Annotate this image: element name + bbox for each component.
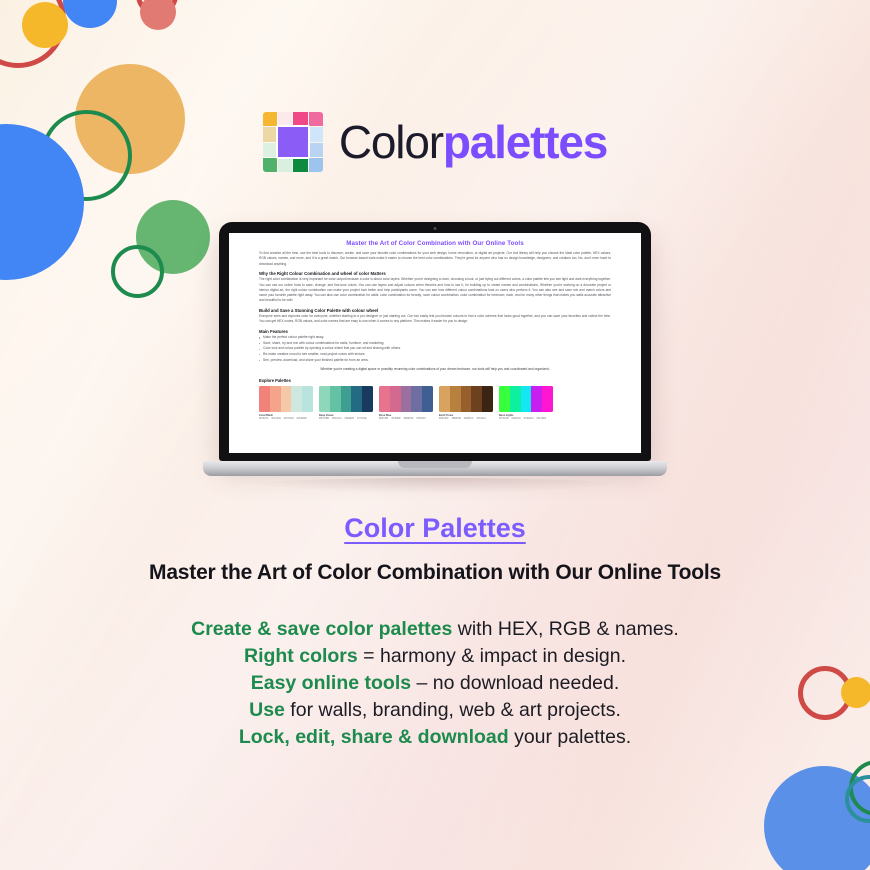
brand-logo: Colorpalettes bbox=[0, 112, 870, 172]
brand-word-color: Color bbox=[339, 116, 443, 168]
palette-hex: #C81EF0 bbox=[524, 418, 534, 420]
logo-cell-0 bbox=[263, 112, 277, 126]
palette-swatch[interactable] bbox=[390, 386, 401, 412]
palette-swatch[interactable] bbox=[422, 386, 433, 412]
logo-cell-14 bbox=[293, 158, 307, 172]
logo-cell-13 bbox=[278, 158, 292, 172]
palette-hex-list: #E8738F#D4698F#9B6F9E#3F5F93 bbox=[379, 418, 433, 420]
laptop-base bbox=[203, 461, 667, 476]
feature-bullet-rest: = harmony & impact in design. bbox=[358, 645, 626, 667]
palette-hex: #173A5E bbox=[357, 418, 366, 420]
palette-swatch[interactable] bbox=[259, 386, 270, 412]
palette-swatch[interactable] bbox=[401, 386, 412, 412]
palette-swatch[interactable] bbox=[542, 386, 553, 412]
palette-swatch[interactable] bbox=[351, 386, 362, 412]
sub-headline: Master the Art of Color Combination with… bbox=[0, 561, 870, 585]
logo-cell-11 bbox=[309, 143, 323, 157]
palette-card[interactable]: Earth Tones#D9A35F#B8803F#965F2C#3C2412 bbox=[439, 386, 493, 419]
palette-swatches bbox=[319, 386, 373, 412]
logo-cell-12 bbox=[263, 158, 277, 172]
screen-palette-strip: Coral Blush#F0827A#F4A48A#F5C9A8#CFE8DFD… bbox=[259, 386, 611, 419]
palette-card[interactable]: Neon Lights#37FF3E#12E7F2#C81EF0#FF16D2 bbox=[499, 386, 553, 419]
palette-name: Coral Blush bbox=[259, 414, 313, 417]
feature-bullet-lead: Create & save color palettes bbox=[191, 618, 452, 640]
laptop-camera-icon bbox=[434, 227, 437, 230]
palette-swatch[interactable] bbox=[471, 386, 482, 412]
logo-cell-15 bbox=[309, 158, 323, 172]
palette-swatches bbox=[439, 386, 493, 412]
blue-circle-top bbox=[63, 0, 117, 28]
palette-name: Neon Lights bbox=[499, 414, 553, 417]
screen-palette-section-title: Explore Palettes bbox=[259, 378, 611, 383]
screen-features-heading: Main Features bbox=[259, 329, 611, 334]
screen-section-body-1: The right color combination is very impo… bbox=[259, 277, 611, 303]
palette-hex-list: #8FD7BB#63C2A4#3E9E8F#173A5E bbox=[319, 418, 373, 420]
screen-section-heading-2: Build and Save a Stunning Color Palette … bbox=[259, 308, 611, 313]
feature-bullet-line: Easy online tools – no download needed. bbox=[0, 670, 870, 697]
palette-hex: #FF16D2 bbox=[537, 418, 547, 420]
palette-swatch[interactable] bbox=[330, 386, 341, 412]
feature-bullet-rest: your palettes. bbox=[509, 726, 631, 748]
screen-feature-item: See, preview, download, and share your f… bbox=[259, 358, 611, 364]
feature-bullet-list: Create & save color palettes with HEX, R… bbox=[0, 616, 870, 751]
palette-hex: #B8803F bbox=[452, 418, 461, 420]
palette-hex: #12E7F2 bbox=[511, 418, 520, 420]
feature-bullet-line: Right colors = harmony & impact in desig… bbox=[0, 643, 870, 670]
palette-hex: #9B6F9E bbox=[404, 418, 414, 420]
palette-hex: #3F5F93 bbox=[416, 418, 425, 420]
palette-swatch[interactable] bbox=[302, 386, 313, 412]
palette-hex: #E8738F bbox=[379, 418, 388, 420]
palette-swatch[interactable] bbox=[499, 386, 510, 412]
palette-swatch[interactable] bbox=[362, 386, 373, 412]
laptop-mockup: Master the Art of Color Combination with… bbox=[219, 222, 651, 494]
palette-swatch[interactable] bbox=[482, 386, 493, 412]
palette-hex: #8FD7BB bbox=[319, 418, 329, 420]
logo-cell-3 bbox=[309, 112, 323, 126]
feature-bullet-lead: Easy online tools bbox=[251, 672, 411, 694]
palette-hex-list: #F0827A#F4A48A#F5C9A8#CFE8DF bbox=[259, 418, 313, 420]
palette-name: Earth Tones bbox=[439, 414, 493, 417]
palette-swatch[interactable] bbox=[439, 386, 450, 412]
laptop-shadow bbox=[237, 478, 633, 494]
palette-hex: #3E9E8F bbox=[345, 418, 355, 420]
screen-features-list: Make the perfect colour palette right aw… bbox=[259, 335, 611, 363]
screen-intro-paragraph: To find creative all the time, use the b… bbox=[259, 251, 611, 267]
feature-bullet-rest: – no download needed. bbox=[411, 672, 619, 694]
palette-swatch[interactable] bbox=[510, 386, 521, 412]
feature-bullet-lead: Use bbox=[249, 699, 285, 721]
palette-card[interactable]: Rose Blue#E8738F#D4698F#9B6F9E#3F5F93 bbox=[379, 386, 433, 419]
palette-hex: #63C2A4 bbox=[332, 418, 342, 420]
color-palettes-link[interactable]: Color Palettes bbox=[0, 513, 870, 544]
feature-bullet-rest: with HEX, RGB & names. bbox=[452, 618, 679, 640]
palette-hex: #D9A35F bbox=[439, 418, 449, 420]
logo-center-square bbox=[276, 125, 310, 159]
palette-swatch[interactable] bbox=[319, 386, 330, 412]
palette-card[interactable]: Deep Ocean#8FD7BB#63C2A4#3E9E8F#173A5E bbox=[319, 386, 373, 419]
screen-closing-note: Whether you're creating a digital space … bbox=[259, 367, 611, 372]
palette-swatch[interactable] bbox=[379, 386, 390, 412]
pink-circle-top bbox=[140, 0, 176, 30]
palette-card[interactable]: Coral Blush#F0827A#F4A48A#F5C9A8#CFE8DF bbox=[259, 386, 313, 419]
palette-hex: #F5C9A8 bbox=[284, 418, 294, 420]
palette-swatch[interactable] bbox=[531, 386, 542, 412]
screen-section-body-2: Everyone sees and explores color for eve… bbox=[259, 314, 611, 325]
palette-hex-list: #37FF3E#12E7F2#C81EF0#FF16D2 bbox=[499, 418, 553, 420]
palette-swatch[interactable] bbox=[411, 386, 422, 412]
palette-hex: #37FF3E bbox=[499, 418, 508, 420]
palette-hex: #CFE8DF bbox=[297, 418, 307, 420]
screen-page-title: Master the Art of Color Combination with… bbox=[259, 240, 611, 247]
feature-bullet-rest: for walls, branding, web & art projects. bbox=[285, 699, 621, 721]
screen-section-heading-1: Why the Right Colour Combination and whe… bbox=[259, 271, 611, 276]
palette-swatches bbox=[499, 386, 553, 412]
feature-bullet-line: Lock, edit, share & download your palett… bbox=[0, 724, 870, 751]
palette-hex: #3C2412 bbox=[477, 418, 486, 420]
feature-bullet-lead: Right colors bbox=[244, 645, 358, 667]
color-grid-logo-icon bbox=[263, 112, 323, 172]
palette-hex-list: #D9A35F#B8803F#965F2C#3C2412 bbox=[439, 418, 493, 420]
brand-wordmark: Colorpalettes bbox=[339, 115, 607, 169]
palette-hex: #965F2C bbox=[464, 418, 473, 420]
palette-swatch[interactable] bbox=[281, 386, 292, 412]
feature-bullet-line: Create & save color palettes with HEX, R… bbox=[0, 616, 870, 643]
palette-hex: #F0827A bbox=[259, 418, 268, 420]
palette-hex: #F4A48A bbox=[271, 418, 281, 420]
feature-bullet-lead: Lock, edit, share & download bbox=[239, 726, 509, 748]
palette-swatch[interactable] bbox=[521, 386, 532, 412]
logo-cell-7 bbox=[309, 127, 323, 141]
palette-hex: #D4698F bbox=[391, 418, 400, 420]
laptop-screen: Master the Art of Color Combination with… bbox=[229, 233, 641, 453]
palette-swatch[interactable] bbox=[461, 386, 472, 412]
amber-circle-top-left bbox=[22, 2, 68, 48]
palette-swatches bbox=[259, 386, 313, 412]
laptop-notch bbox=[398, 461, 472, 468]
green-ring-small bbox=[111, 245, 164, 298]
palette-name: Deep Ocean bbox=[319, 414, 373, 417]
palette-swatch[interactable] bbox=[450, 386, 461, 412]
palette-swatch[interactable] bbox=[291, 386, 302, 412]
palette-swatches bbox=[379, 386, 433, 412]
palette-swatch[interactable] bbox=[270, 386, 281, 412]
feature-bullet-line: Use for walls, branding, web & art proje… bbox=[0, 697, 870, 724]
palette-name: Rose Blue bbox=[379, 414, 433, 417]
brand-word-palettes: palettes bbox=[443, 116, 607, 168]
palette-swatch[interactable] bbox=[341, 386, 352, 412]
laptop-lid: Master the Art of Color Combination with… bbox=[219, 222, 651, 461]
